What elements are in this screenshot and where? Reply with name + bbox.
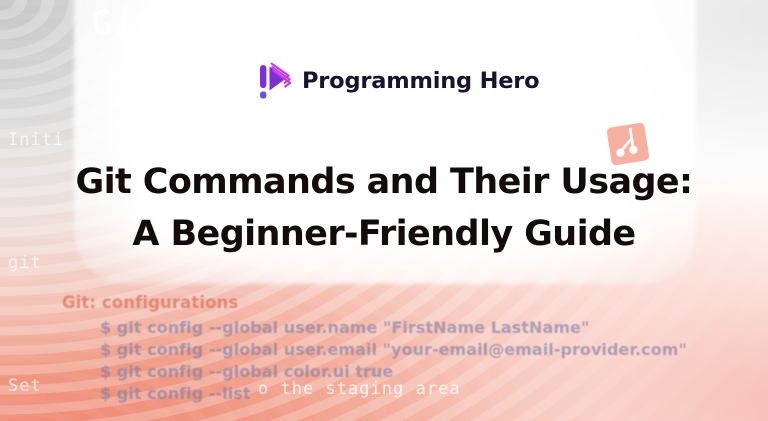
page-title: Git Commands and Their Usage: A Beginner… — [0, 156, 768, 260]
brand-lockup: Programming Hero — [259, 61, 539, 101]
brand-name: Programming Hero — [302, 68, 539, 94]
git-cheat-sheet-banner: Git commands Cheat Sheet Initi git Set g… — [0, 0, 768, 421]
banner-header: Programming Hero — [0, 58, 768, 120]
page-title-line-1: Git Commands and Their Usage: — [76, 162, 693, 202]
page-title-line-2: A Beginner-Friendly Guide — [0, 208, 768, 260]
programming-hero-play-mark-icon — [259, 61, 293, 101]
